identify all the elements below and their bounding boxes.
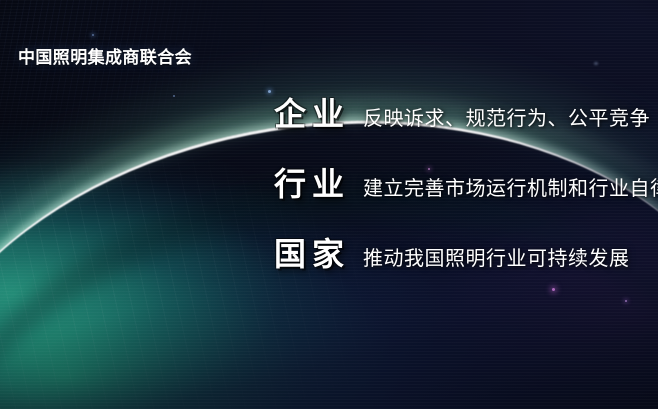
slogan-keyword: 企业 [250,92,350,136]
organization-title: 中国照明集成商联合会 [18,43,192,68]
slogan-keyword: 行业 [250,162,350,206]
slogan-row: 行业 建立完善市场运行机制和行业自律 [250,162,650,232]
slogan-description: 推动我国照明行业可持续发展 [363,237,630,281]
slogan-row: 国家 推动我国照明行业可持续发展 [250,232,650,302]
slogan-description: 反映诉求、规范行为、公平竞争 [363,97,650,141]
slogan-row: 企业 反映诉求、规范行为、公平竞争 [250,92,650,162]
slogan-keyword: 国家 [250,232,350,276]
promo-banner: 中国照明集成商联合会 企业 反映诉求、规范行为、公平竞争 行业 建立完善市场运行… [0,0,658,409]
slogan-description: 建立完善市场运行机制和行业自律 [363,167,658,211]
banner-content: 中国照明集成商联合会 企业 反映诉求、规范行为、公平竞争 行业 建立完善市场运行… [0,0,658,409]
slogan-list: 企业 反映诉求、规范行为、公平竞争 行业 建立完善市场运行机制和行业自律 国家 … [250,92,650,302]
